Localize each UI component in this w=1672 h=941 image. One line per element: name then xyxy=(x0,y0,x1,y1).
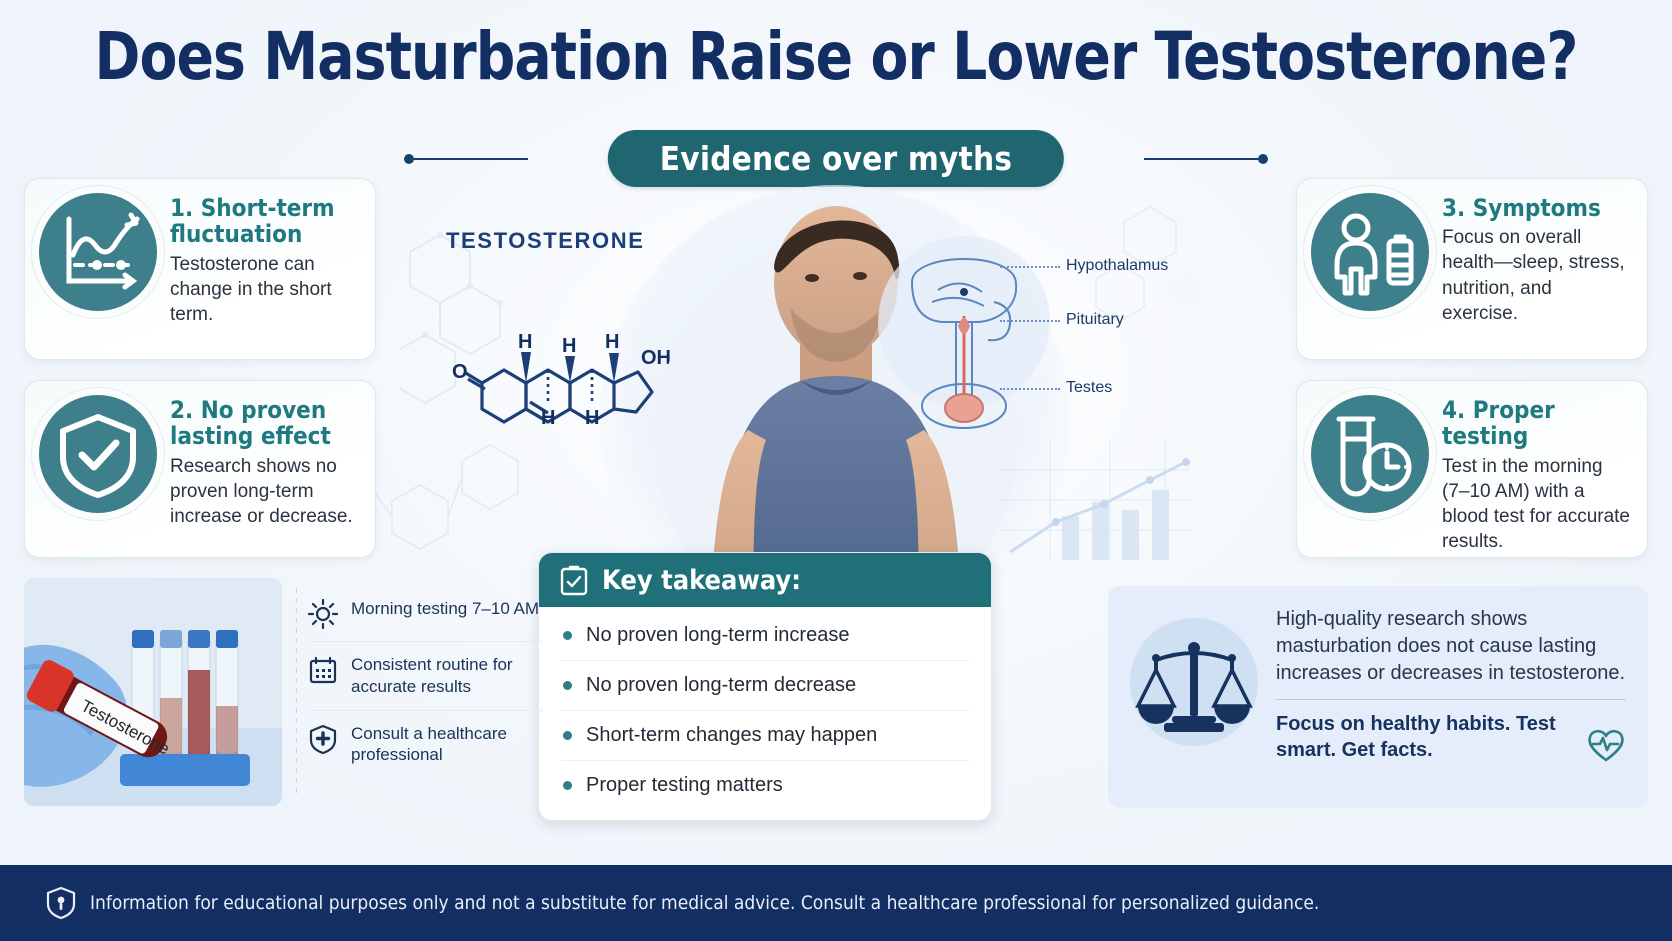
key-takeaway-panel: Key takeaway: No proven long-term increa… xyxy=(538,552,992,821)
disclaimer-text: Information for educational purposes onl… xyxy=(90,892,1319,914)
svg-text:H: H xyxy=(605,331,619,353)
svg-text:H: H xyxy=(585,407,599,429)
fact-label: Consult a healthcare professional xyxy=(351,723,543,767)
leader-line-hypothalamus xyxy=(1000,266,1060,268)
person-battery-icon xyxy=(1311,193,1429,311)
card-symptoms[interactable]: 3. Symptoms Focus on overall health—slee… xyxy=(1296,178,1648,360)
list-item: No proven long-term increase xyxy=(561,611,969,661)
list-item-label: No proven long-term increase xyxy=(586,624,849,647)
page-title: Does Masturbation Raise or Lower Testost… xyxy=(59,18,1614,95)
card-proper-testing[interactable]: 4. Proper testing Test in the morning (7… xyxy=(1296,380,1648,558)
background-growth-chart-icon xyxy=(1000,440,1190,560)
line-chart-icon xyxy=(39,193,157,311)
bullet-icon xyxy=(563,781,572,790)
svg-text:H: H xyxy=(541,407,555,429)
fact-morning-testing: Morning testing 7–10 AM xyxy=(308,586,543,642)
bullet-icon xyxy=(563,631,572,640)
card-body: Test in the morning (7–10 AM) with a blo… xyxy=(1442,454,1631,554)
fact-label: Morning testing 7–10 AM xyxy=(351,598,539,620)
banner-line-right xyxy=(1144,158,1264,160)
shield-plus-icon xyxy=(308,724,338,754)
anatomy-label-hypothalamus: Hypothalamus xyxy=(1066,257,1168,275)
svg-text:H: H xyxy=(562,335,576,357)
disclaimer-footer: Information for educational purposes onl… xyxy=(0,865,1672,941)
key-takeaway-list: No proven long-term increase No proven l… xyxy=(539,607,991,820)
hpg-axis-diagram-icon xyxy=(876,230,1056,430)
leader-line-pituitary xyxy=(1000,320,1060,322)
subtitle-banner: Evidence over myths xyxy=(608,130,1064,187)
card-body: Focus on overall health—sleep, stress, n… xyxy=(1442,225,1631,325)
shield-check-icon xyxy=(39,395,157,513)
anatomy-label-pituitary: Pituitary xyxy=(1066,311,1124,329)
anatomy-label-testes: Testes xyxy=(1066,379,1112,397)
fact-consistent-routine: Consistent routine for accurate results xyxy=(308,642,543,711)
card-no-lasting-effect[interactable]: 2. No proven lasting effect Research sho… xyxy=(24,380,376,558)
fact-label: Consistent routine for accurate results xyxy=(351,654,543,698)
calendar-icon xyxy=(308,655,338,685)
balance-scales-icon xyxy=(1130,618,1258,746)
bullet-icon xyxy=(563,681,572,690)
svg-text:O: O xyxy=(452,361,468,383)
banner-line-left xyxy=(408,158,528,160)
bullet-icon xyxy=(563,731,572,740)
key-takeaway-header: Key takeaway: xyxy=(539,553,991,607)
molecule-label: TESTOSTERONE xyxy=(446,228,645,254)
shield-info-icon xyxy=(46,886,76,920)
test-tube-clock-icon xyxy=(1311,395,1429,513)
blood-vial-photo: Testosterone xyxy=(24,578,282,806)
list-item: Short-term changes may happen xyxy=(561,711,969,761)
card-heading: 4. Proper testing xyxy=(1442,397,1631,450)
card-heading: 1. Short-term fluctuation xyxy=(170,195,359,248)
list-item-label: Short-term changes may happen xyxy=(586,724,877,747)
card-short-term-fluctuation[interactable]: 1. Short-term fluctuation Testosterone c… xyxy=(24,178,376,360)
infographic-canvas: Does Masturbation Raise or Lower Testost… xyxy=(0,0,1672,941)
list-item: Proper testing matters xyxy=(561,761,969,810)
clipboard-check-icon xyxy=(559,564,589,596)
card-heading: 2. No proven lasting effect xyxy=(170,397,359,450)
card-heading: 3. Symptoms xyxy=(1442,195,1631,221)
list-item-label: No proven long-term decrease xyxy=(586,674,856,697)
summary-bold-text: Focus on healthy habits. Test smart. Get… xyxy=(1276,711,1574,763)
leader-line-testes xyxy=(1000,388,1060,390)
heart-pulse-icon xyxy=(1586,727,1626,763)
svg-text:H: H xyxy=(518,331,532,353)
summary-paragraph: High-quality research shows masturbation… xyxy=(1276,606,1626,686)
card-body: Research shows no proven long-term incre… xyxy=(170,454,359,529)
summary-divider xyxy=(1276,699,1626,700)
summary-panel: High-quality research shows masturbation… xyxy=(1108,586,1648,808)
list-item-label: Proper testing matters xyxy=(586,774,783,797)
testing-facts-list: Morning testing 7–10 AM Consistent routi… xyxy=(308,586,543,778)
key-takeaway-title: Key takeaway: xyxy=(602,565,801,596)
banner-dot-right-icon xyxy=(1258,154,1268,164)
card-body: Testosterone can change in the short ter… xyxy=(170,252,359,327)
sun-icon xyxy=(308,599,338,629)
fact-consult-professional: Consult a healthcare professional xyxy=(308,711,543,779)
list-item: No proven long-term decrease xyxy=(561,661,969,711)
facts-divider xyxy=(296,588,297,796)
